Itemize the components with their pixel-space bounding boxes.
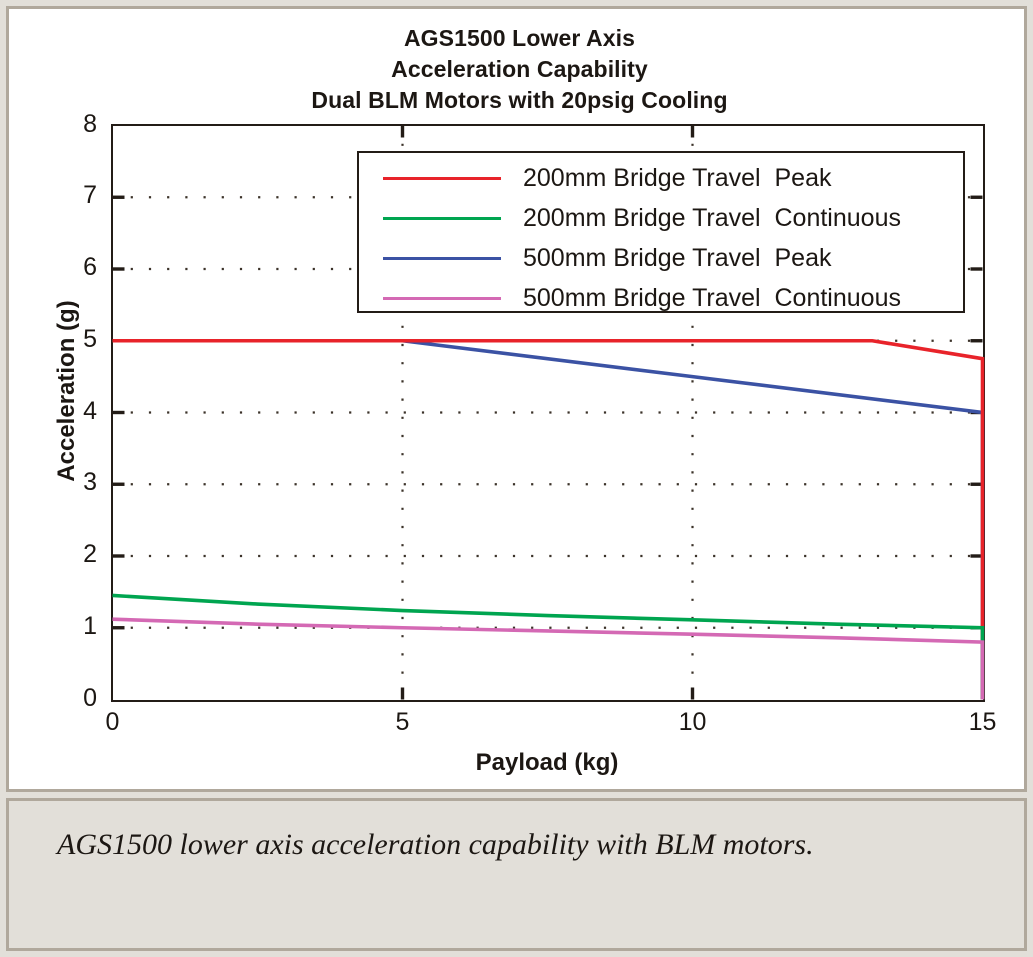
legend-item: 200mm Bridge Travel Peak [359,160,963,196]
legend-label-series-2: 500mm Bridge Travel Peak [523,244,831,273]
figure-root: AGS1500 Lower Axis Acceleration Capabili… [0,0,1033,957]
legend-swatch-series-2 [383,257,501,260]
chart-legend: 200mm Bridge Travel Peak 200mm Bridge Tr… [357,151,965,313]
x-tick-label: 10 [663,708,723,737]
legend-swatch-series-1 [383,217,501,220]
y-axis-title: Acceleration (g) [53,271,81,511]
figure-caption: AGS1500 lower axis acceleration capabili… [57,825,937,865]
plot-wrapper: 012345678 051015 Payload (kg) Accelerati… [9,9,1030,795]
x-tick-label: 15 [953,708,1013,737]
y-tick-label: 8 [49,110,97,139]
legend-label-series-0: 200mm Bridge Travel Peak [523,164,831,193]
legend-label-series-1: 200mm Bridge Travel Continuous [523,204,901,233]
x-tick-label: 0 [83,708,143,737]
legend-item: 500mm Bridge Travel Peak [359,240,963,276]
x-tick-label: 5 [373,708,433,737]
caption-panel: AGS1500 lower axis acceleration capabili… [6,798,1027,951]
legend-swatch-series-0 [383,177,501,180]
legend-label-series-3: 500mm Bridge Travel Continuous [523,284,901,313]
legend-item: 500mm Bridge Travel Continuous [359,280,963,316]
y-tick-label: 2 [49,540,97,569]
plot-canvas [9,9,1030,795]
legend-item: 200mm Bridge Travel Continuous [359,200,963,236]
x-axis-title: Payload (kg) [111,749,983,777]
data-curves [113,341,983,700]
legend-swatch-series-3 [383,297,501,300]
y-tick-label: 7 [49,181,97,210]
chart-panel: AGS1500 Lower Axis Acceleration Capabili… [6,6,1027,792]
y-tick-label: 1 [49,612,97,641]
